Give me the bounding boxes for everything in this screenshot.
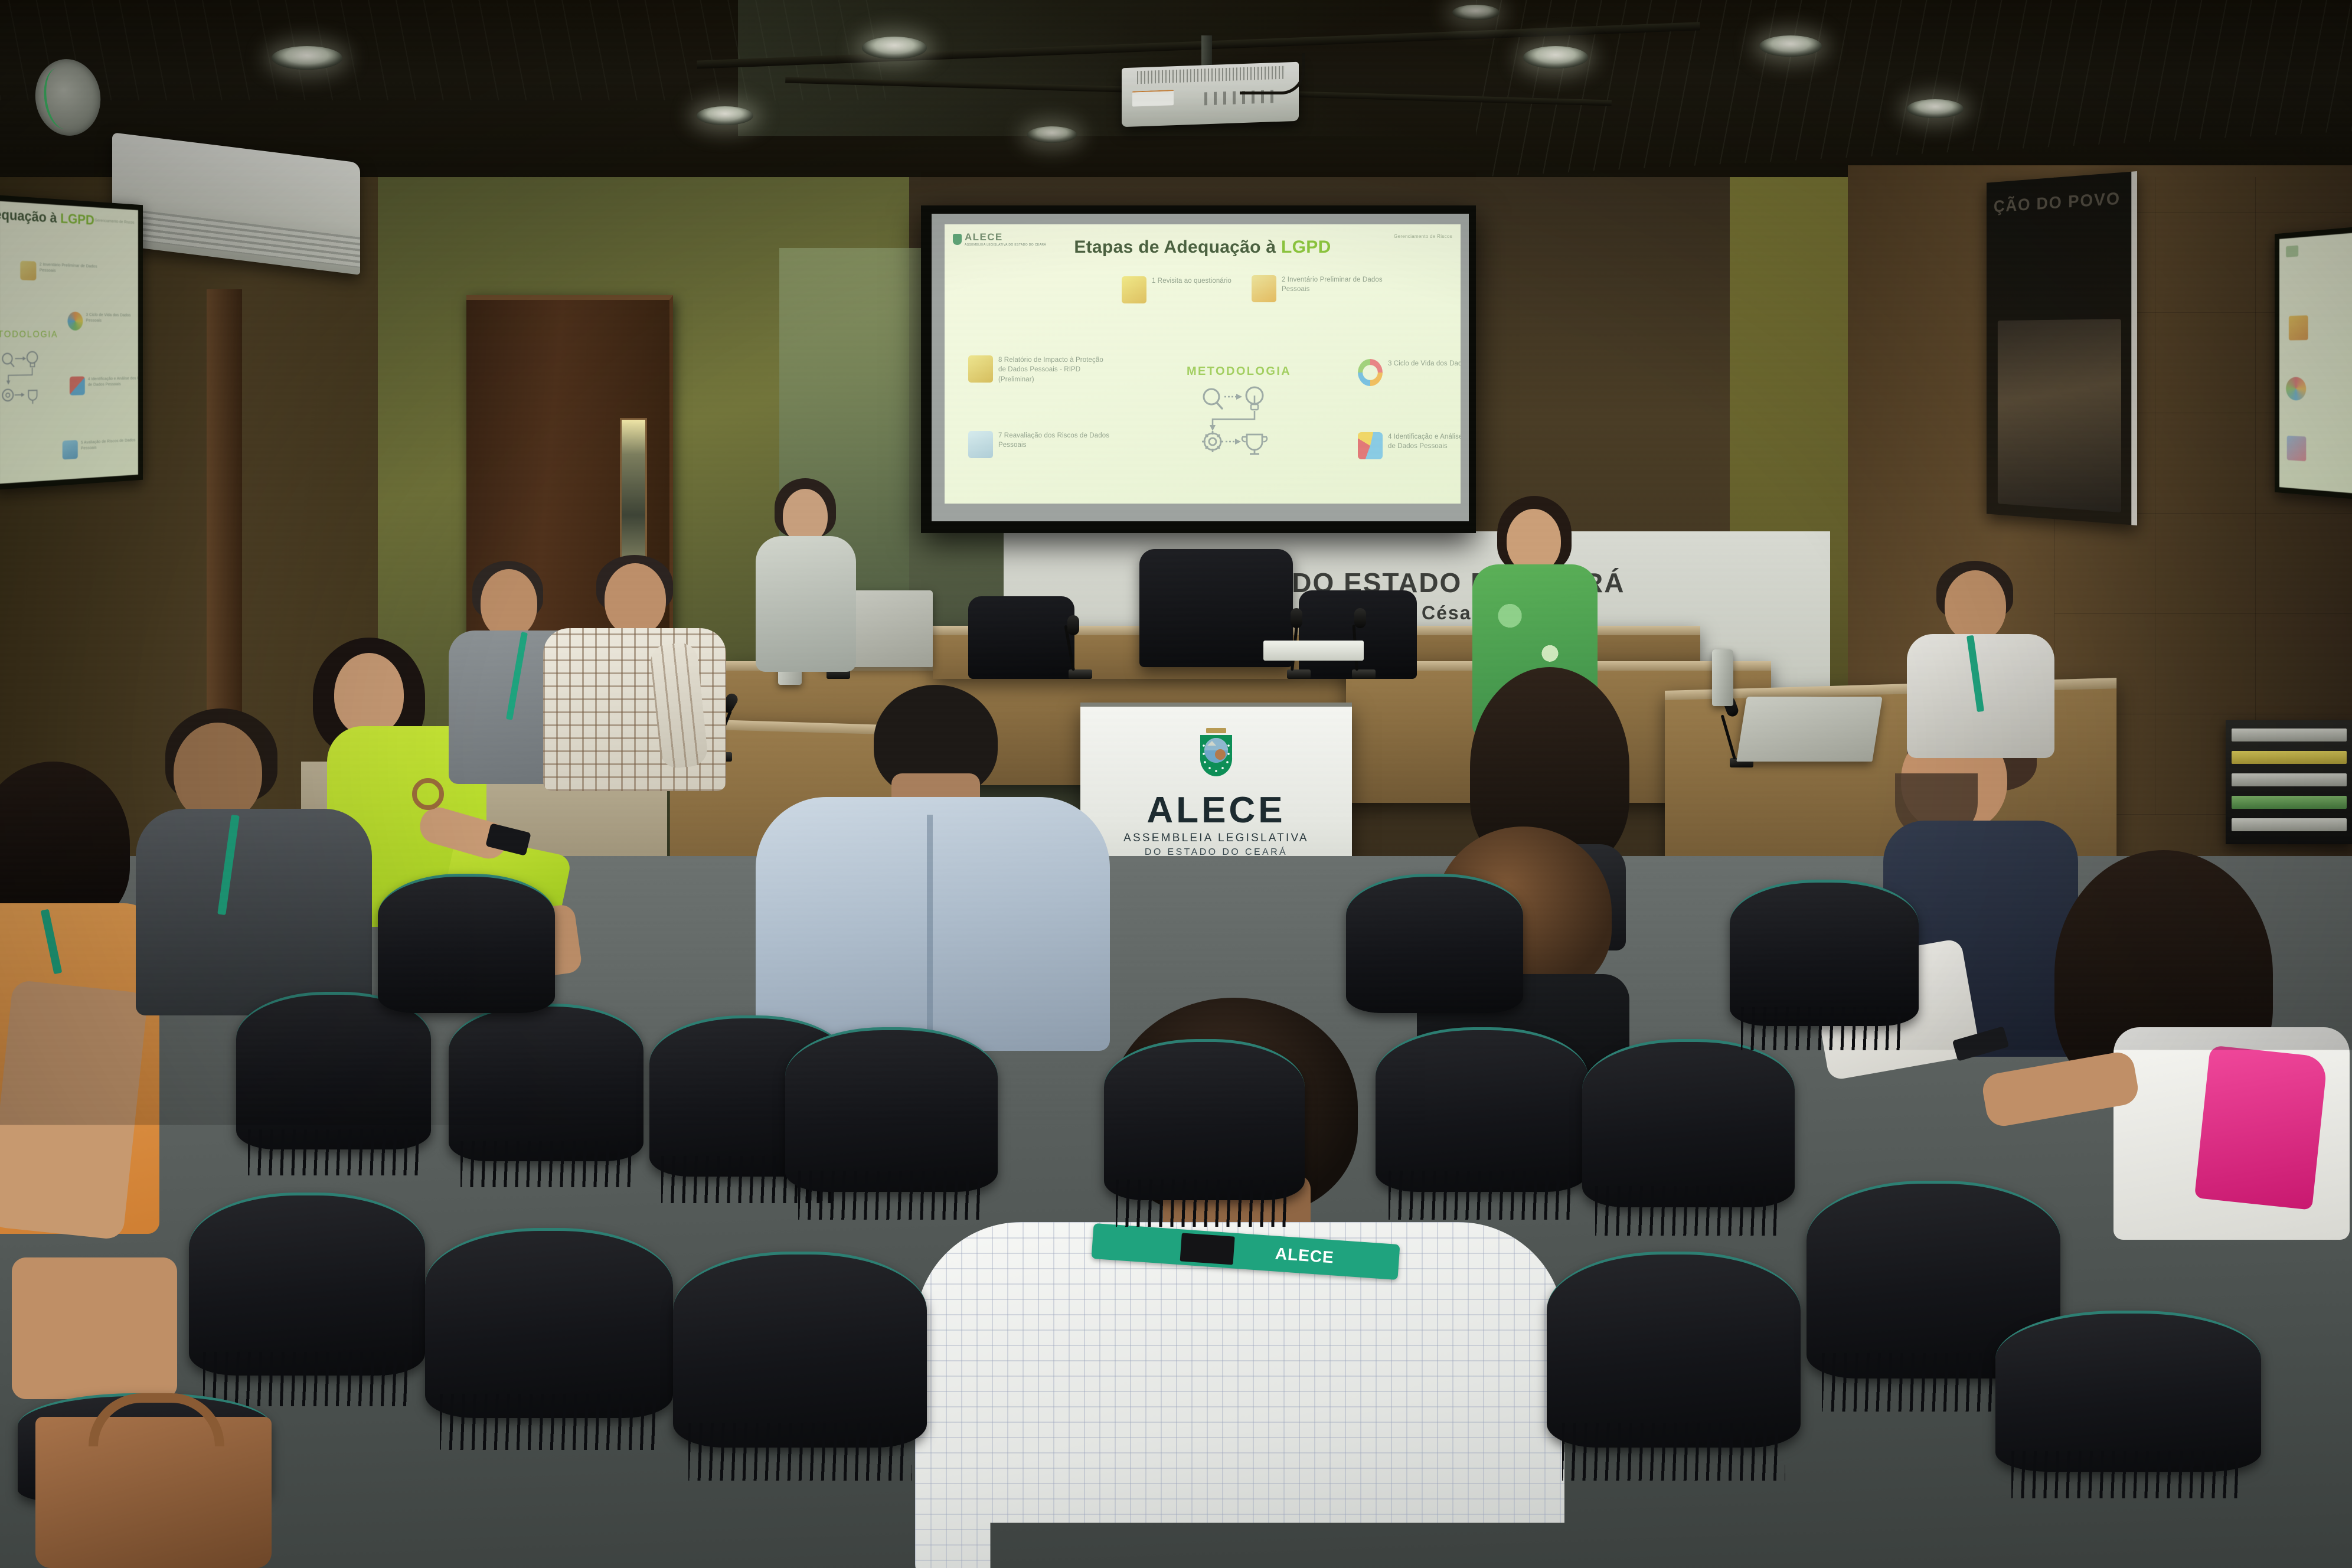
chair[interactable] [1995, 1311, 2261, 1568]
chair[interactable] [673, 1252, 927, 1568]
lifecycle-ring-icon [67, 312, 83, 331]
left-monitor-step: 5 Avaliação de Riscos de Dados Pessoais [63, 437, 138, 459]
person-attendee-pink-top [2031, 850, 2350, 1240]
person-attendee-checkered-shirt [543, 555, 732, 791]
head [1507, 509, 1561, 573]
left-monitor-step-label: 2 Inventário Preliminar de Dados Pessoai… [40, 262, 103, 282]
downlight [1523, 46, 1588, 68]
chair-slats [1595, 1186, 1782, 1236]
mic-base [1287, 669, 1311, 679]
chair[interactable] [1730, 880, 1919, 1116]
presentation-slide: ALECE ASSEMBLEIA LEGISLATIVA DO ESTADO D… [945, 224, 1461, 504]
chair-back [189, 1193, 425, 1376]
chair-slats [2011, 1451, 2245, 1498]
slide-step-label: 7 Reavaliação dos Riscos de Dados Pessoa… [998, 431, 1110, 450]
left-monitor-title-accent: LGPD [60, 211, 94, 228]
risk-analysis-icon [1358, 432, 1383, 459]
chair-slats [798, 1171, 985, 1219]
methodology-flow-diagram [1198, 385, 1275, 456]
questionnaire-icon [2289, 315, 2308, 340]
chair-slats [460, 1141, 632, 1187]
hair [0, 762, 130, 927]
torso [756, 536, 856, 672]
projection-screen-bezel: ALECE ASSEMBLEIA LEGISLATIVA DO ESTADO D… [932, 214, 1469, 521]
slide-step-7: 7 Reavaliação dos Riscos de Dados Pessoa… [968, 431, 1110, 458]
chair[interactable] [1547, 1252, 1801, 1568]
chair-back [785, 1027, 998, 1192]
projection-screen-frame: ALECE ASSEMBLEIA LEGISLATIVA DO ESTADO D… [921, 205, 1476, 533]
slide-step-1: 1 Revisita ao questionário [1122, 276, 1263, 303]
podium-subtitle-1: ASSEMBLEIA LEGISLATIVA [1080, 832, 1352, 845]
inventory-icon [20, 261, 36, 280]
ceara-coat-of-arms-icon [1197, 728, 1236, 778]
downlight [1452, 5, 1500, 20]
slide-title-main: Etapas de Adequação à [1074, 237, 1281, 257]
head [1945, 570, 2006, 641]
slide-center-label: METODOLOGIA [1187, 365, 1291, 378]
risk-assessment-icon [63, 440, 78, 459]
chair-back [1730, 880, 1919, 1026]
lifecycle-ring-icon [2286, 377, 2306, 400]
chair-back [1995, 1311, 2261, 1472]
chair-back [1547, 1252, 1801, 1448]
chair[interactable] [1346, 874, 1523, 1098]
impact-report-icon [968, 355, 993, 383]
mic-head-icon [1354, 608, 1366, 628]
mic-base [1069, 669, 1092, 679]
left-monitor-corner-label: Gerenciamento de Riscos [94, 218, 134, 225]
risk-analysis-icon [70, 376, 85, 395]
left-monitor-title: Adequação à [0, 205, 60, 226]
slide-step-label: 3 Ciclo de Vida dos Dados Pessoais [1388, 359, 1461, 368]
slide-title: Etapas de Adequação à LGPD [945, 237, 1461, 257]
projector-cable [1240, 53, 1305, 94]
head [481, 569, 537, 638]
head [605, 563, 666, 635]
av-rack-row [2232, 818, 2347, 831]
head [783, 489, 828, 543]
poster-photo [1998, 319, 2121, 512]
slide-step-4: 4 Identificação e Análise dos Riscos de … [1358, 432, 1461, 459]
chair-slats [1741, 1007, 1907, 1050]
downlight [862, 37, 927, 59]
left-monitor-step: 4 Identificação e Análise dos Riscos de … [70, 375, 138, 396]
slide-step-8: 8 Relatório de Impacto à Proteção de Dad… [968, 355, 1110, 384]
downlight [1027, 126, 1077, 143]
downlight [1907, 99, 1964, 118]
av-rack [2226, 720, 2352, 844]
chair[interactable] [378, 874, 555, 1098]
podium-acronym: ALECE [1080, 789, 1352, 831]
chair-slats [1116, 1180, 1292, 1227]
arm [0, 979, 148, 1240]
wall-poster: ÇÃO DO POVO [1987, 171, 2137, 525]
chair-back [673, 1252, 927, 1448]
slide-step-label: 2 Inventário Preliminar de Dados Pessoai… [1282, 275, 1393, 295]
gooseneck-microphone [1069, 614, 1092, 679]
methodology-flow-diagram [0, 348, 43, 413]
chair-back [425, 1228, 673, 1418]
chair[interactable] [1104, 1039, 1305, 1299]
right-wall-monitor [2275, 224, 2352, 502]
slide-step-label: 8 Relatório de Impacto à Proteção de Dad… [998, 355, 1110, 384]
downlight [1759, 35, 1822, 57]
av-rack-row [2232, 796, 2347, 809]
left-wall-monitor: Adequação à LGPD Gerenciamento de Riscos… [0, 195, 143, 490]
slide-step-3: 3 Ciclo de Vida dos Dados Pessoais [1358, 359, 1461, 386]
leg [12, 1257, 177, 1399]
left-monitor-step-label: 3 Ciclo de Vida dos Dados Pessoais [86, 312, 138, 331]
lifecycle-ring-icon [1358, 359, 1383, 386]
head [174, 723, 262, 822]
left-monitor-center-label: ETODOLOGIA [0, 329, 58, 340]
clock-ring-icon [41, 66, 83, 131]
person-attendee-blue-shirt-center [756, 685, 1110, 1051]
slide-step-label: 4 Identificação e Análise dos Riscos de … [1388, 432, 1461, 452]
mic-head-icon [1291, 608, 1302, 628]
executive-chair [968, 596, 1074, 679]
chair-back [1104, 1039, 1305, 1200]
chair-slats [688, 1423, 912, 1481]
chair[interactable] [425, 1228, 673, 1535]
left-monitor-step-label: 4 Identificação e Análise dos Riscos de … [88, 375, 138, 395]
door-frame [207, 289, 242, 750]
downlight [272, 46, 342, 70]
av-rack-row [2232, 773, 2347, 786]
reassessment-icon [968, 431, 993, 458]
questionnaire-icon [1122, 276, 1146, 303]
pink-garment [2194, 1045, 2328, 1210]
slide-step-2: 2 Inventário Preliminar de Dados Pessoai… [1252, 275, 1393, 302]
mic-base [1352, 669, 1376, 679]
inventory-icon [1252, 275, 1276, 302]
chair-slats [248, 1129, 419, 1175]
person-attendee-back-right [1907, 561, 2054, 756]
person-presenter-seated-left [750, 478, 862, 679]
slide-logo-icon [2286, 245, 2298, 257]
torso [136, 809, 372, 1015]
slide-title-accent: LGPD [1281, 237, 1331, 257]
left-monitor-screen: Adequação à LGPD Gerenciamento de Riscos… [0, 201, 138, 484]
chair-slats [1389, 1171, 1576, 1219]
poster-headline: ÇÃO DO POVO [1994, 189, 2121, 217]
right-monitor-screen [2279, 231, 2352, 495]
chair-slats [1562, 1423, 1785, 1481]
left-monitor-step: 2 Inventário Preliminar de Dados Pessoai… [20, 261, 103, 283]
chair-back [378, 874, 555, 1013]
av-rack-row [2232, 729, 2347, 741]
person-attendee-black-foreground [136, 708, 384, 1015]
risk-analysis-icon [2287, 436, 2307, 461]
water-bottle [1712, 649, 1733, 706]
left-monitor-step: 3 Ciclo de Vida dos Dados Pessoais [67, 312, 138, 331]
av-rack-row [2232, 751, 2347, 764]
slide-step-label: 1 Revisita ao questionário [1152, 276, 1231, 286]
necklace-pendant-icon [412, 778, 444, 810]
mic-head-icon [1067, 615, 1079, 635]
meeting-room-photo: A DO ESTADO DO CEARÁ utado César Cals Ad… [0, 0, 2352, 1568]
left-monitor-step-label: 5 Avaliação de Riscos de Dados Pessoais [81, 437, 138, 459]
chair-slats [440, 1394, 658, 1450]
document-stack [1263, 641, 1364, 661]
chair-back [1346, 874, 1523, 1013]
downlight [697, 106, 753, 125]
